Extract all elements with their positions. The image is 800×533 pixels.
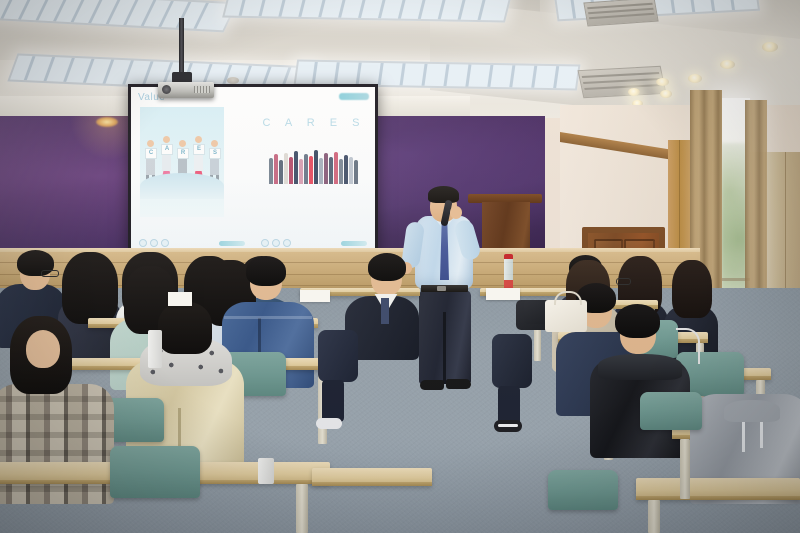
desk xyxy=(312,468,432,486)
eyeglasses-icon xyxy=(41,270,59,277)
paper-document[interactable] xyxy=(168,292,192,306)
eyeglasses-icon xyxy=(616,278,631,285)
presenter-belt-buckle xyxy=(437,286,446,291)
desk-leg xyxy=(680,439,690,499)
presenter-trouser-seam xyxy=(443,312,446,384)
chair[interactable] xyxy=(640,392,702,430)
sneaker xyxy=(316,418,342,429)
water-bottle[interactable] xyxy=(504,258,513,292)
desk xyxy=(636,478,800,500)
paper-document[interactable] xyxy=(486,288,520,300)
paper-document[interactable] xyxy=(300,290,330,302)
chair[interactable] xyxy=(548,470,618,510)
presenter-hand xyxy=(450,206,462,219)
thermos-cup[interactable] xyxy=(148,330,162,368)
chair[interactable] xyxy=(110,446,200,498)
thermos-cup[interactable] xyxy=(258,458,274,484)
presenter-shoe xyxy=(446,379,471,389)
bottle-cap-icon xyxy=(504,254,513,259)
presenter-shoe xyxy=(420,380,444,390)
tote-bag[interactable] xyxy=(545,300,587,332)
desk-leg xyxy=(648,500,660,533)
desk-leg xyxy=(296,484,308,533)
hoodie-drawstring-icon xyxy=(760,422,763,448)
lecture-hall-photo: 2018年华东理 金” 颁奖仪式 Value C A xyxy=(0,0,800,533)
presenter-hair xyxy=(428,186,459,203)
hoodie-drawstring-icon xyxy=(742,422,745,452)
earphone-cord-icon xyxy=(676,328,700,364)
